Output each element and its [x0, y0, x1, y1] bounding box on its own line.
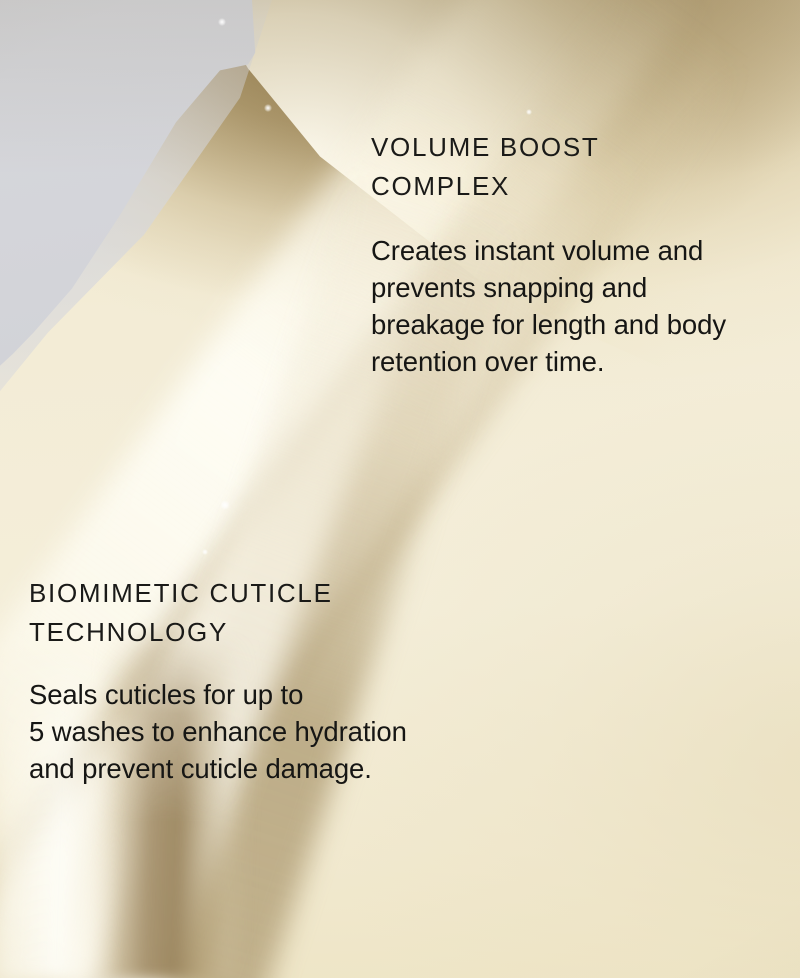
- sparkle-dot: [264, 104, 272, 112]
- sparkle-dot: [202, 549, 208, 555]
- sparkle-dot: [220, 500, 230, 510]
- benefit-heading-volume-boost-complex: VOLUME BOOST COMPLEX: [371, 128, 791, 206]
- sparkle-dot: [218, 18, 226, 26]
- benefit-description-biomimetic-cuticle-technology: Seals cuticles for up to 5 washes to enh…: [29, 676, 499, 787]
- product-benefit-panel: VOLUME BOOST COMPLEX Creates instant vol…: [0, 0, 800, 978]
- benefit-block-volume-boost-complex: VOLUME BOOST COMPLEX Creates instant vol…: [371, 128, 791, 380]
- sparkle-dot: [526, 109, 532, 115]
- benefit-description-volume-boost-complex: Creates instant volume and prevents snap…: [371, 232, 791, 380]
- benefit-heading-biomimetic-cuticle-technology: BIOMIMETIC CUTICLE TECHNOLOGY: [29, 574, 499, 652]
- benefit-block-biomimetic-cuticle-technology: BIOMIMETIC CUTICLE TECHNOLOGY Seals cuti…: [29, 574, 499, 787]
